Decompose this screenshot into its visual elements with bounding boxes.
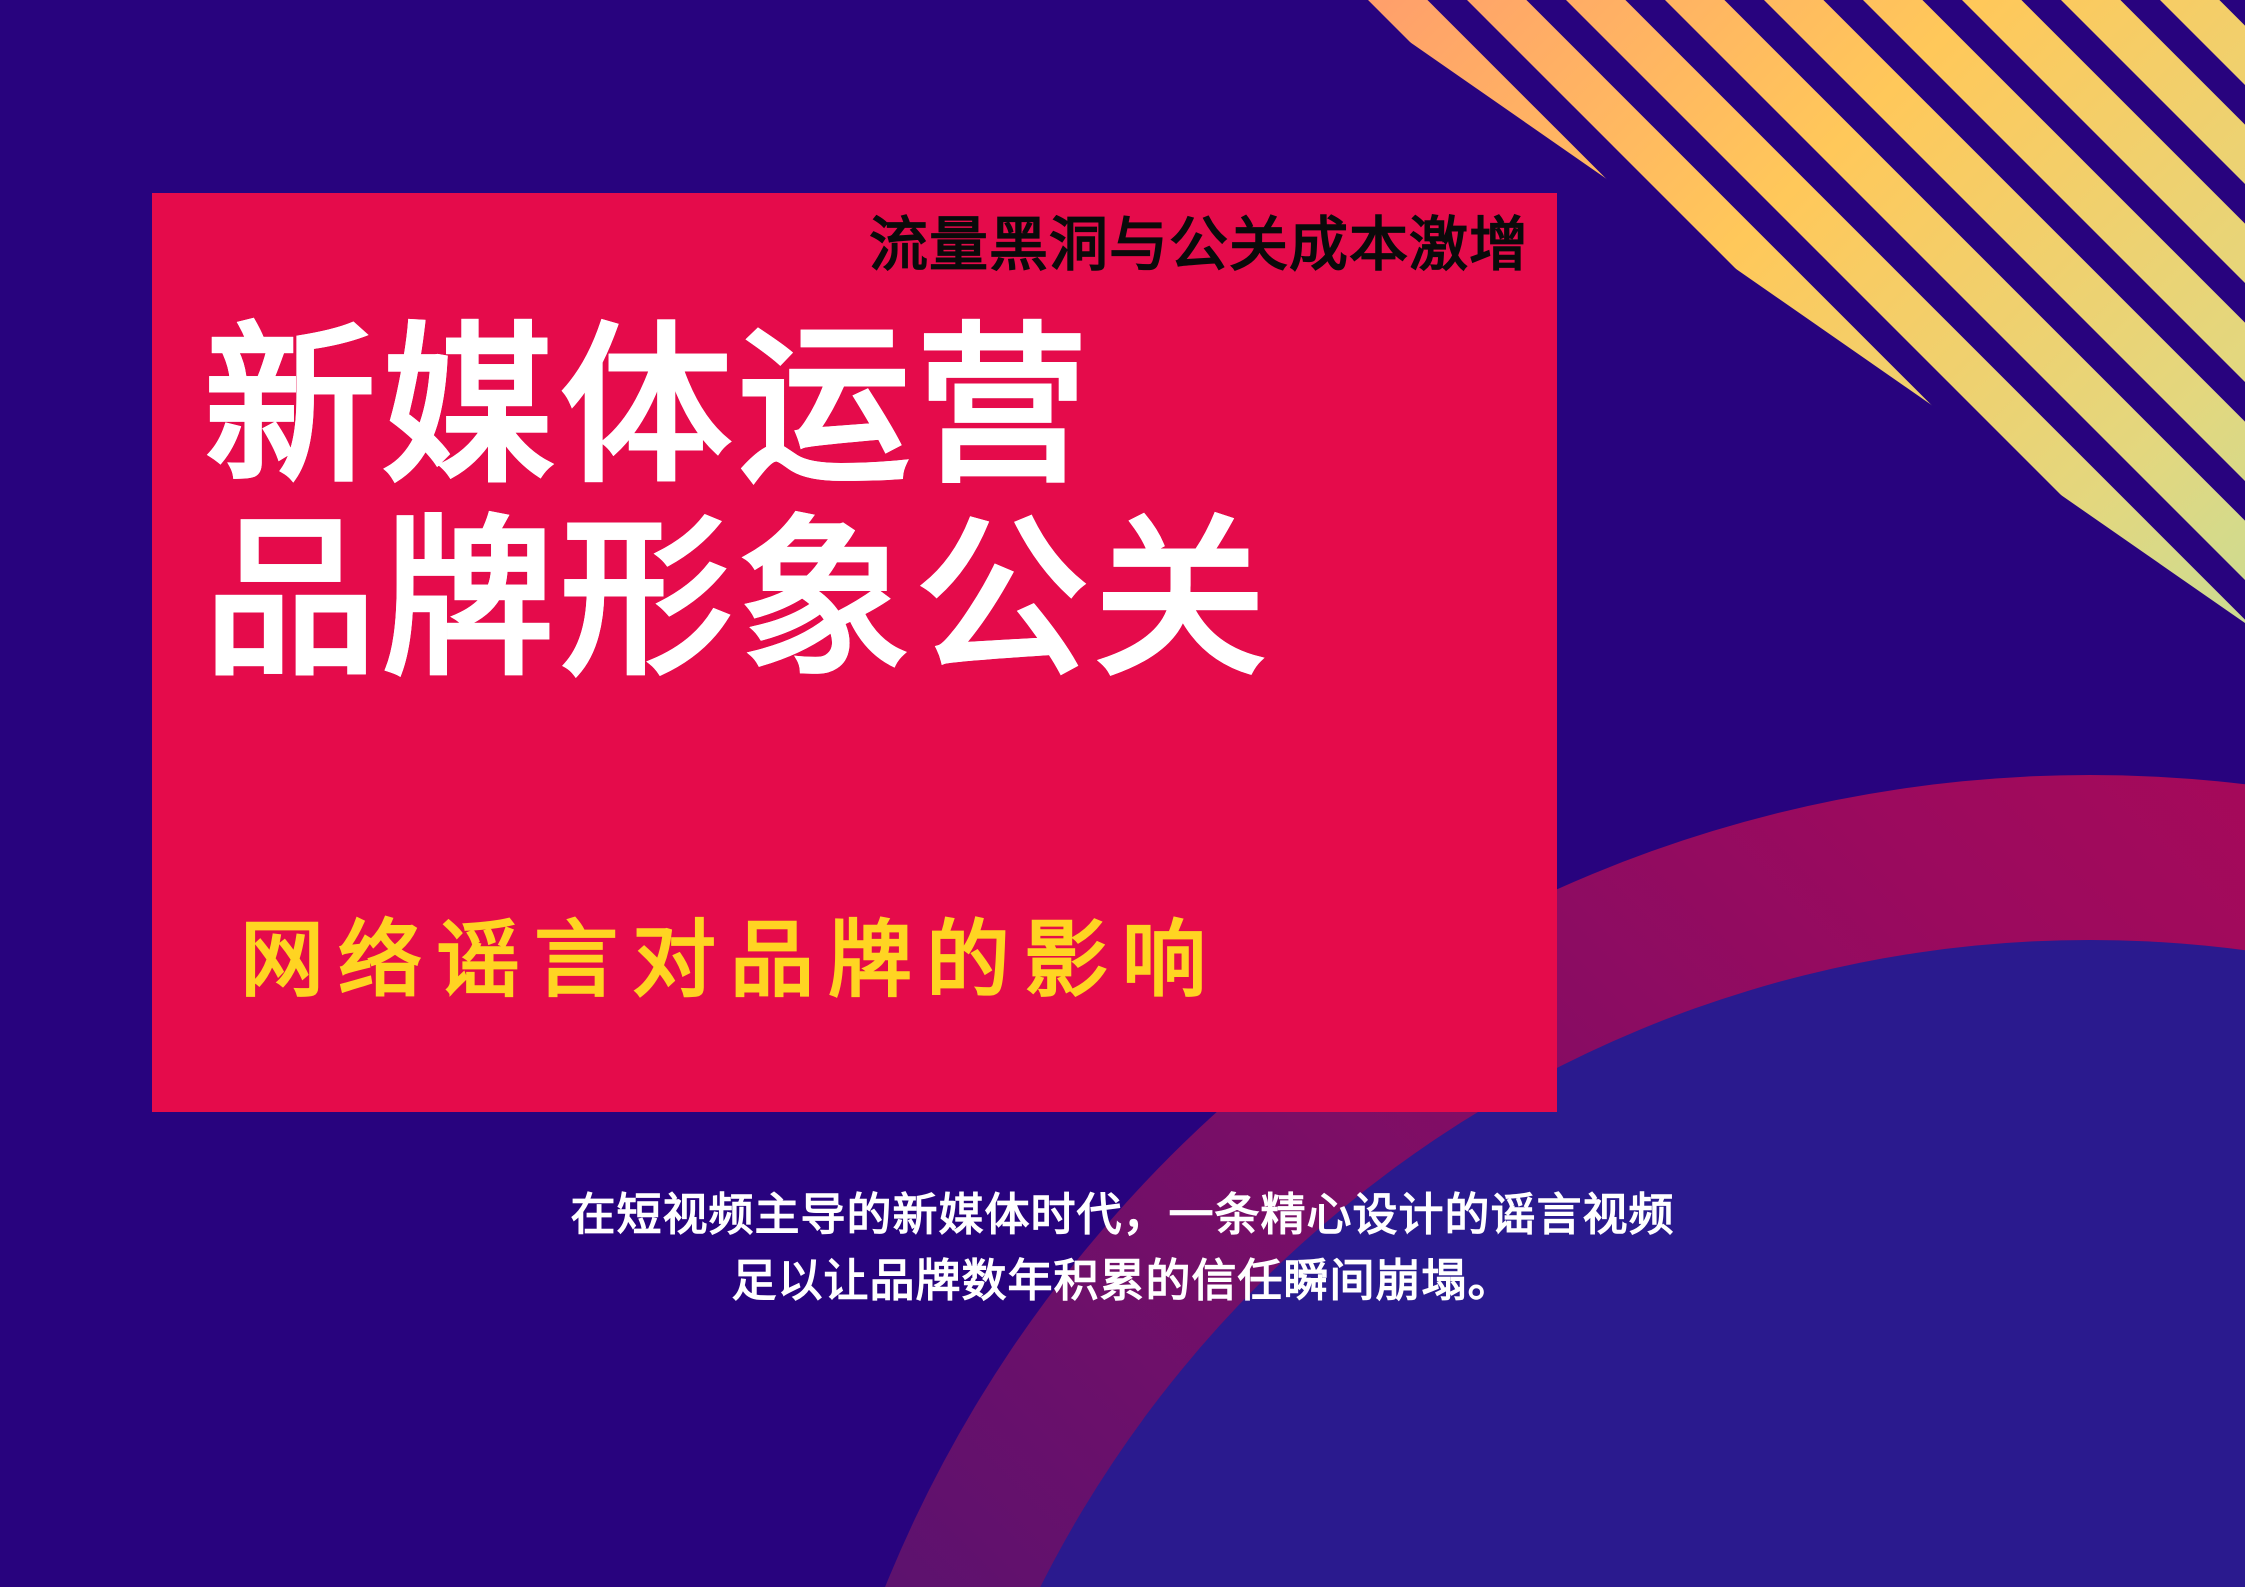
- bottom-caption: 在短视频主导的新媒体时代，一条精心设计的谣言视频 足以让品牌数年积累的信任瞬间崩…: [0, 1182, 2245, 1313]
- caption-line-1: 在短视频主导的新媒体时代，一条精心设计的谣言视频: [0, 1182, 2245, 1248]
- banner-title-block: 新媒体运营 品牌形象公关: [204, 311, 1537, 696]
- banner-title-line-2: 品牌形象公关: [204, 504, 1537, 697]
- banner-kicker-text: 网络谣言对品牌的影响: [240, 893, 1220, 1014]
- caption-line-2: 足以让品牌数年积累的信任瞬间崩塌。: [0, 1248, 2245, 1314]
- banner-title-line-1: 新媒体运营: [204, 311, 1537, 504]
- banner-eyebrow-text: 流量黑洞与公关成本激增: [152, 209, 1529, 283]
- poster-canvas: 流量黑洞与公关成本激增 新媒体运营 品牌形象公关 网络谣言对品牌的影响 在短视频…: [0, 0, 2245, 1587]
- headline-banner: 流量黑洞与公关成本激增 新媒体运营 品牌形象公关 网络谣言对品牌的影响: [152, 193, 1557, 1112]
